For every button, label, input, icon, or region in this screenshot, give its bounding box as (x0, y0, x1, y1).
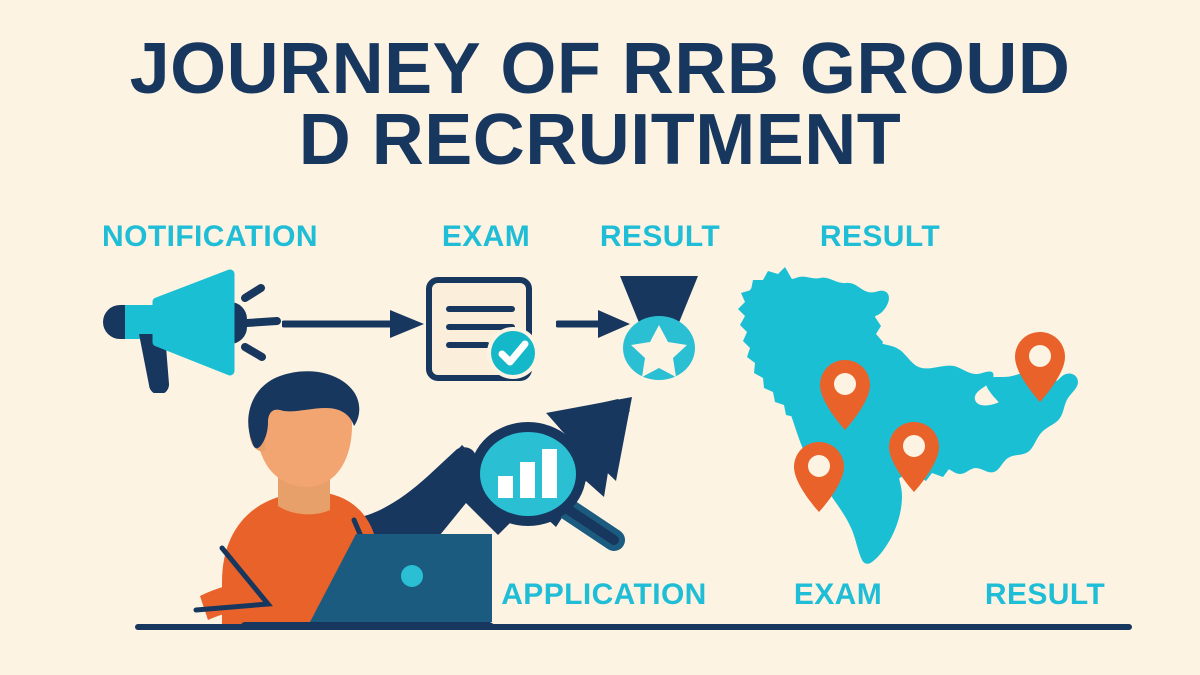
stage-label-application: APPLICATION (501, 578, 707, 612)
india-map-icon (700, 262, 1100, 580)
title-line-2: D RECRUITMENT (36, 105, 1164, 176)
chart-bar-2 (520, 462, 535, 498)
stage-label-exam-bottom: EXAM (794, 578, 882, 612)
stage-label-result-top: RESULT (600, 220, 720, 254)
india-map-shape (738, 267, 1078, 564)
stage-label-result-bottom: RESULT (985, 578, 1105, 612)
person-with-laptop-icon (160, 368, 510, 630)
medal-star-icon (608, 272, 710, 384)
title-line-1: JOURNEY OF RRB GROUD (36, 34, 1164, 105)
chart-bar-3 (542, 449, 557, 498)
page-title: JOURNEY OF RRB GROUD D RECRUITMENT (0, 34, 1200, 175)
stage-label-result-map: RESULT (820, 220, 940, 254)
laptop-logo-icon (401, 565, 423, 587)
stage-label-notification: NOTIFICATION (102, 220, 318, 254)
stage-label-exam-top: EXAM (442, 220, 530, 254)
infographic-poster: JOURNEY OF RRB GROUD D RECRUITMENT NOTIF… (0, 0, 1200, 675)
arrow-right-icon-1 (282, 306, 427, 342)
baseline-rule (135, 624, 1132, 630)
